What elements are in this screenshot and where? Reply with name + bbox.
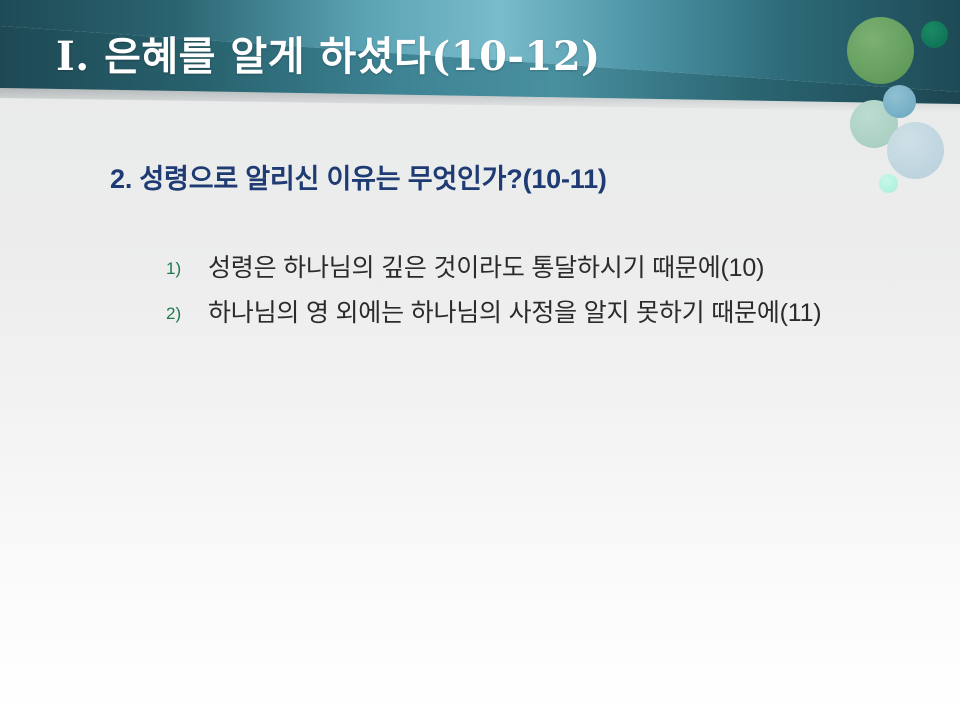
list-item-marker: 2) [166,295,208,331]
list-item: 1) 성령은 하나님의 깊은 것이라도 통달하시기 때문에(10) [166,250,866,286]
pale-blue-bubble [887,122,944,179]
green-large-bubble [847,17,914,84]
section-heading: 2. 성령으로 알리신 이유는 무엇인가?(10-11) [110,157,607,196]
slide-title: Ⅰ. 은혜를 알게 하셨다(10-12) [56,24,601,82]
list-item: 2) 하나님의 영 외에는 하나님의 사정을 알지 못하기 때문에(11) [166,295,866,331]
numbered-list: 1) 성령은 하나님의 깊은 것이라도 통달하시기 때문에(10) 2) 하나님… [166,250,866,340]
presentation-slide: Ⅰ. 은혜를 알게 하셨다(10-12) 2. 성령으로 알리신 이유는 무엇인… [0,0,960,720]
mint-bubble [879,174,898,193]
list-item-text: 하나님의 영 외에는 하나님의 사정을 알지 못하기 때문에(11) [208,295,866,331]
list-item-marker: 1) [166,250,208,286]
green-small-bubble [921,21,948,48]
list-item-text: 성령은 하나님의 깊은 것이라도 통달하시기 때문에(10) [208,250,866,286]
steel-bubble [883,85,916,118]
